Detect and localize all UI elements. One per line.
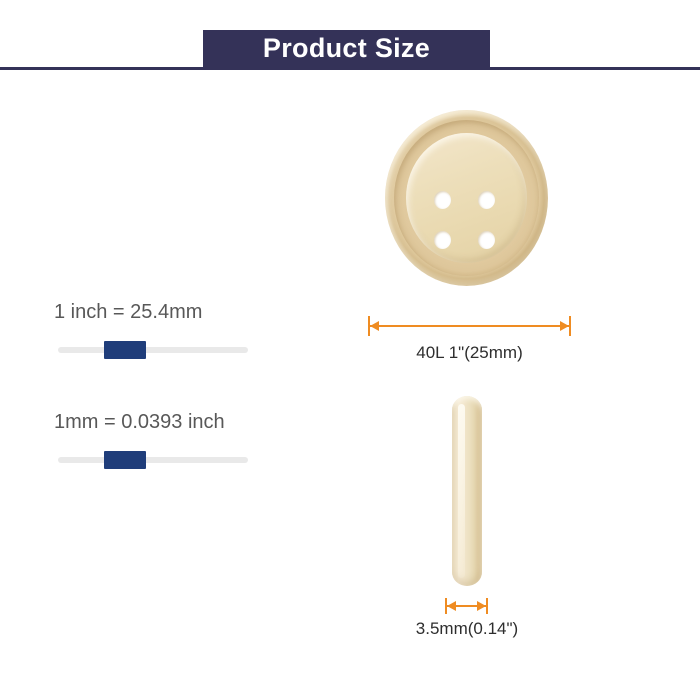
slider-track: [58, 347, 248, 353]
thickness-caption: 3.5mm(0.14"): [386, 619, 548, 639]
conversion-inch-slider[interactable]: [58, 346, 248, 354]
diameter-caption: 40L 1"(25mm): [368, 343, 571, 363]
button-hole-top-left: [434, 191, 451, 209]
conversion-inch-to-mm: 1 inch = 25.4mm: [58, 300, 308, 354]
product-size-infographic: Product Size 1 inch = 25.4mm 1mm = 0.039…: [0, 0, 700, 700]
conversion-mm-to-inch: 1mm = 0.0393 inch: [58, 410, 308, 464]
button-hole-bottom-right: [478, 231, 495, 249]
dimension-arrowhead-right: [560, 321, 569, 331]
conversion-mm-slider[interactable]: [58, 456, 248, 464]
button-side-highlight: [458, 404, 465, 578]
header-divider: [0, 67, 700, 70]
dimension-arrowhead-right: [477, 601, 486, 611]
dimension-line: [368, 325, 571, 327]
slider-track: [58, 457, 248, 463]
slider-thumb[interactable]: [104, 341, 146, 359]
dimension-arrowhead-left: [447, 601, 456, 611]
button-top-view-image: [385, 110, 548, 286]
dimension-arrowhead-left: [370, 321, 379, 331]
diameter-dimension-arrow: [368, 316, 571, 336]
dimension-cap-right: [569, 316, 571, 336]
conversion-inch-label: 1 inch = 25.4mm: [54, 300, 308, 324]
button-hole-top-right: [478, 191, 495, 209]
slider-thumb[interactable]: [104, 451, 146, 469]
conversion-mm-label: 1mm = 0.0393 inch: [54, 410, 308, 434]
button-inner-face: [406, 133, 527, 263]
page-title: Product Size: [263, 35, 430, 62]
thickness-dimension-arrow: [445, 598, 488, 614]
header-banner: Product Size: [203, 30, 490, 67]
button-side-view-image: [452, 396, 482, 586]
dimension-cap-right: [486, 598, 488, 614]
button-hole-bottom-left: [434, 231, 451, 249]
